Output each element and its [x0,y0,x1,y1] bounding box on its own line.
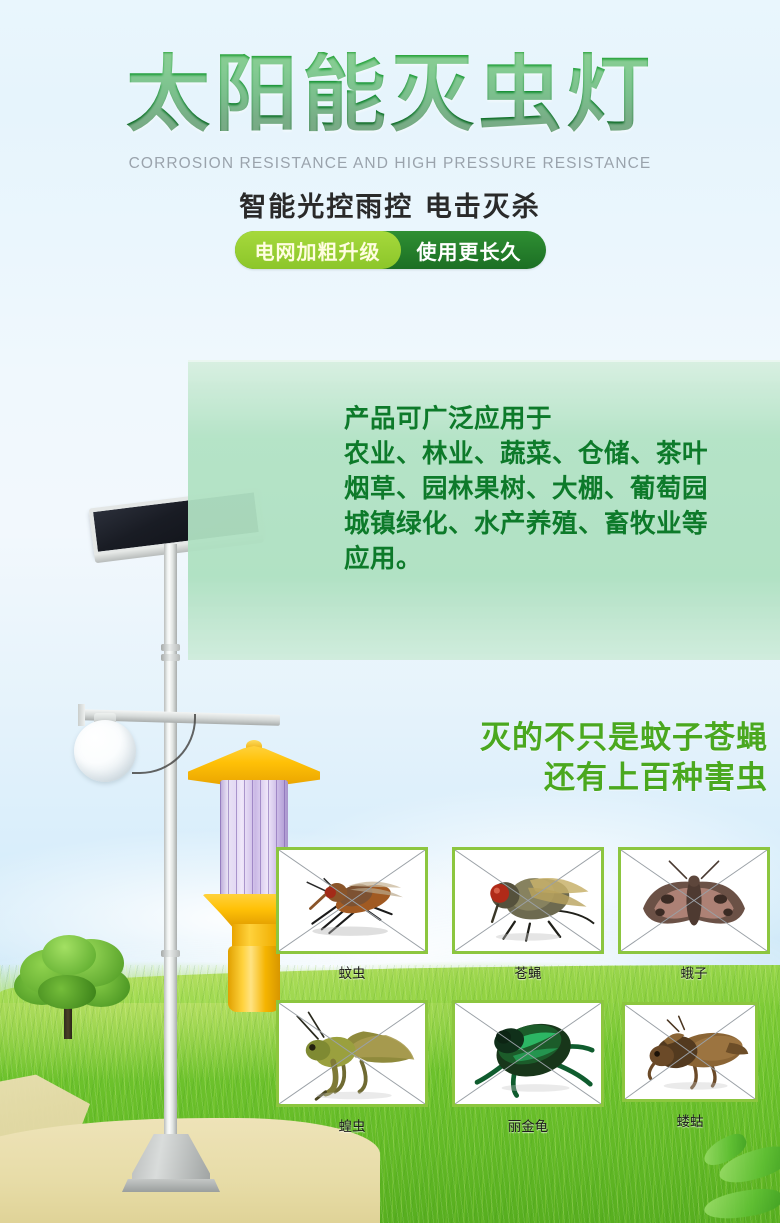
pest-label: 蛾子 [618,962,770,982]
pest-label: 丽金龟 [452,1115,604,1135]
pest-image-scarab [452,1000,604,1107]
pest-gallery: 蚊虫 苍蝇 [0,0,780,1223]
pest-card: 丽金龟 [452,1000,604,1107]
pest-card: 蝗虫 [276,1000,428,1107]
pest-image-fly [452,847,604,954]
pest-label: 蚊虫 [276,962,428,982]
pest-card: 蛾子 [618,847,770,954]
pest-label: 蝗虫 [276,1115,428,1135]
mantis-decoration-icon [676,1128,780,1223]
pest-card: 蚊虫 [276,847,428,954]
pest-image-locust [276,1000,428,1107]
pest-card: 蝼蛄 [622,1002,758,1102]
product-ad-page: 太阳能灭虫灯 CORROSION RESISTANCE AND HIGH PRE… [0,0,780,1223]
pest-label: 苍蝇 [452,962,604,982]
pest-image-mosquito [276,847,428,954]
pest-image-moth [618,847,770,954]
pest-label: 蝼蛄 [622,1110,758,1130]
pest-image-mole-cricket [622,1002,758,1102]
pest-card: 苍蝇 [452,847,604,954]
